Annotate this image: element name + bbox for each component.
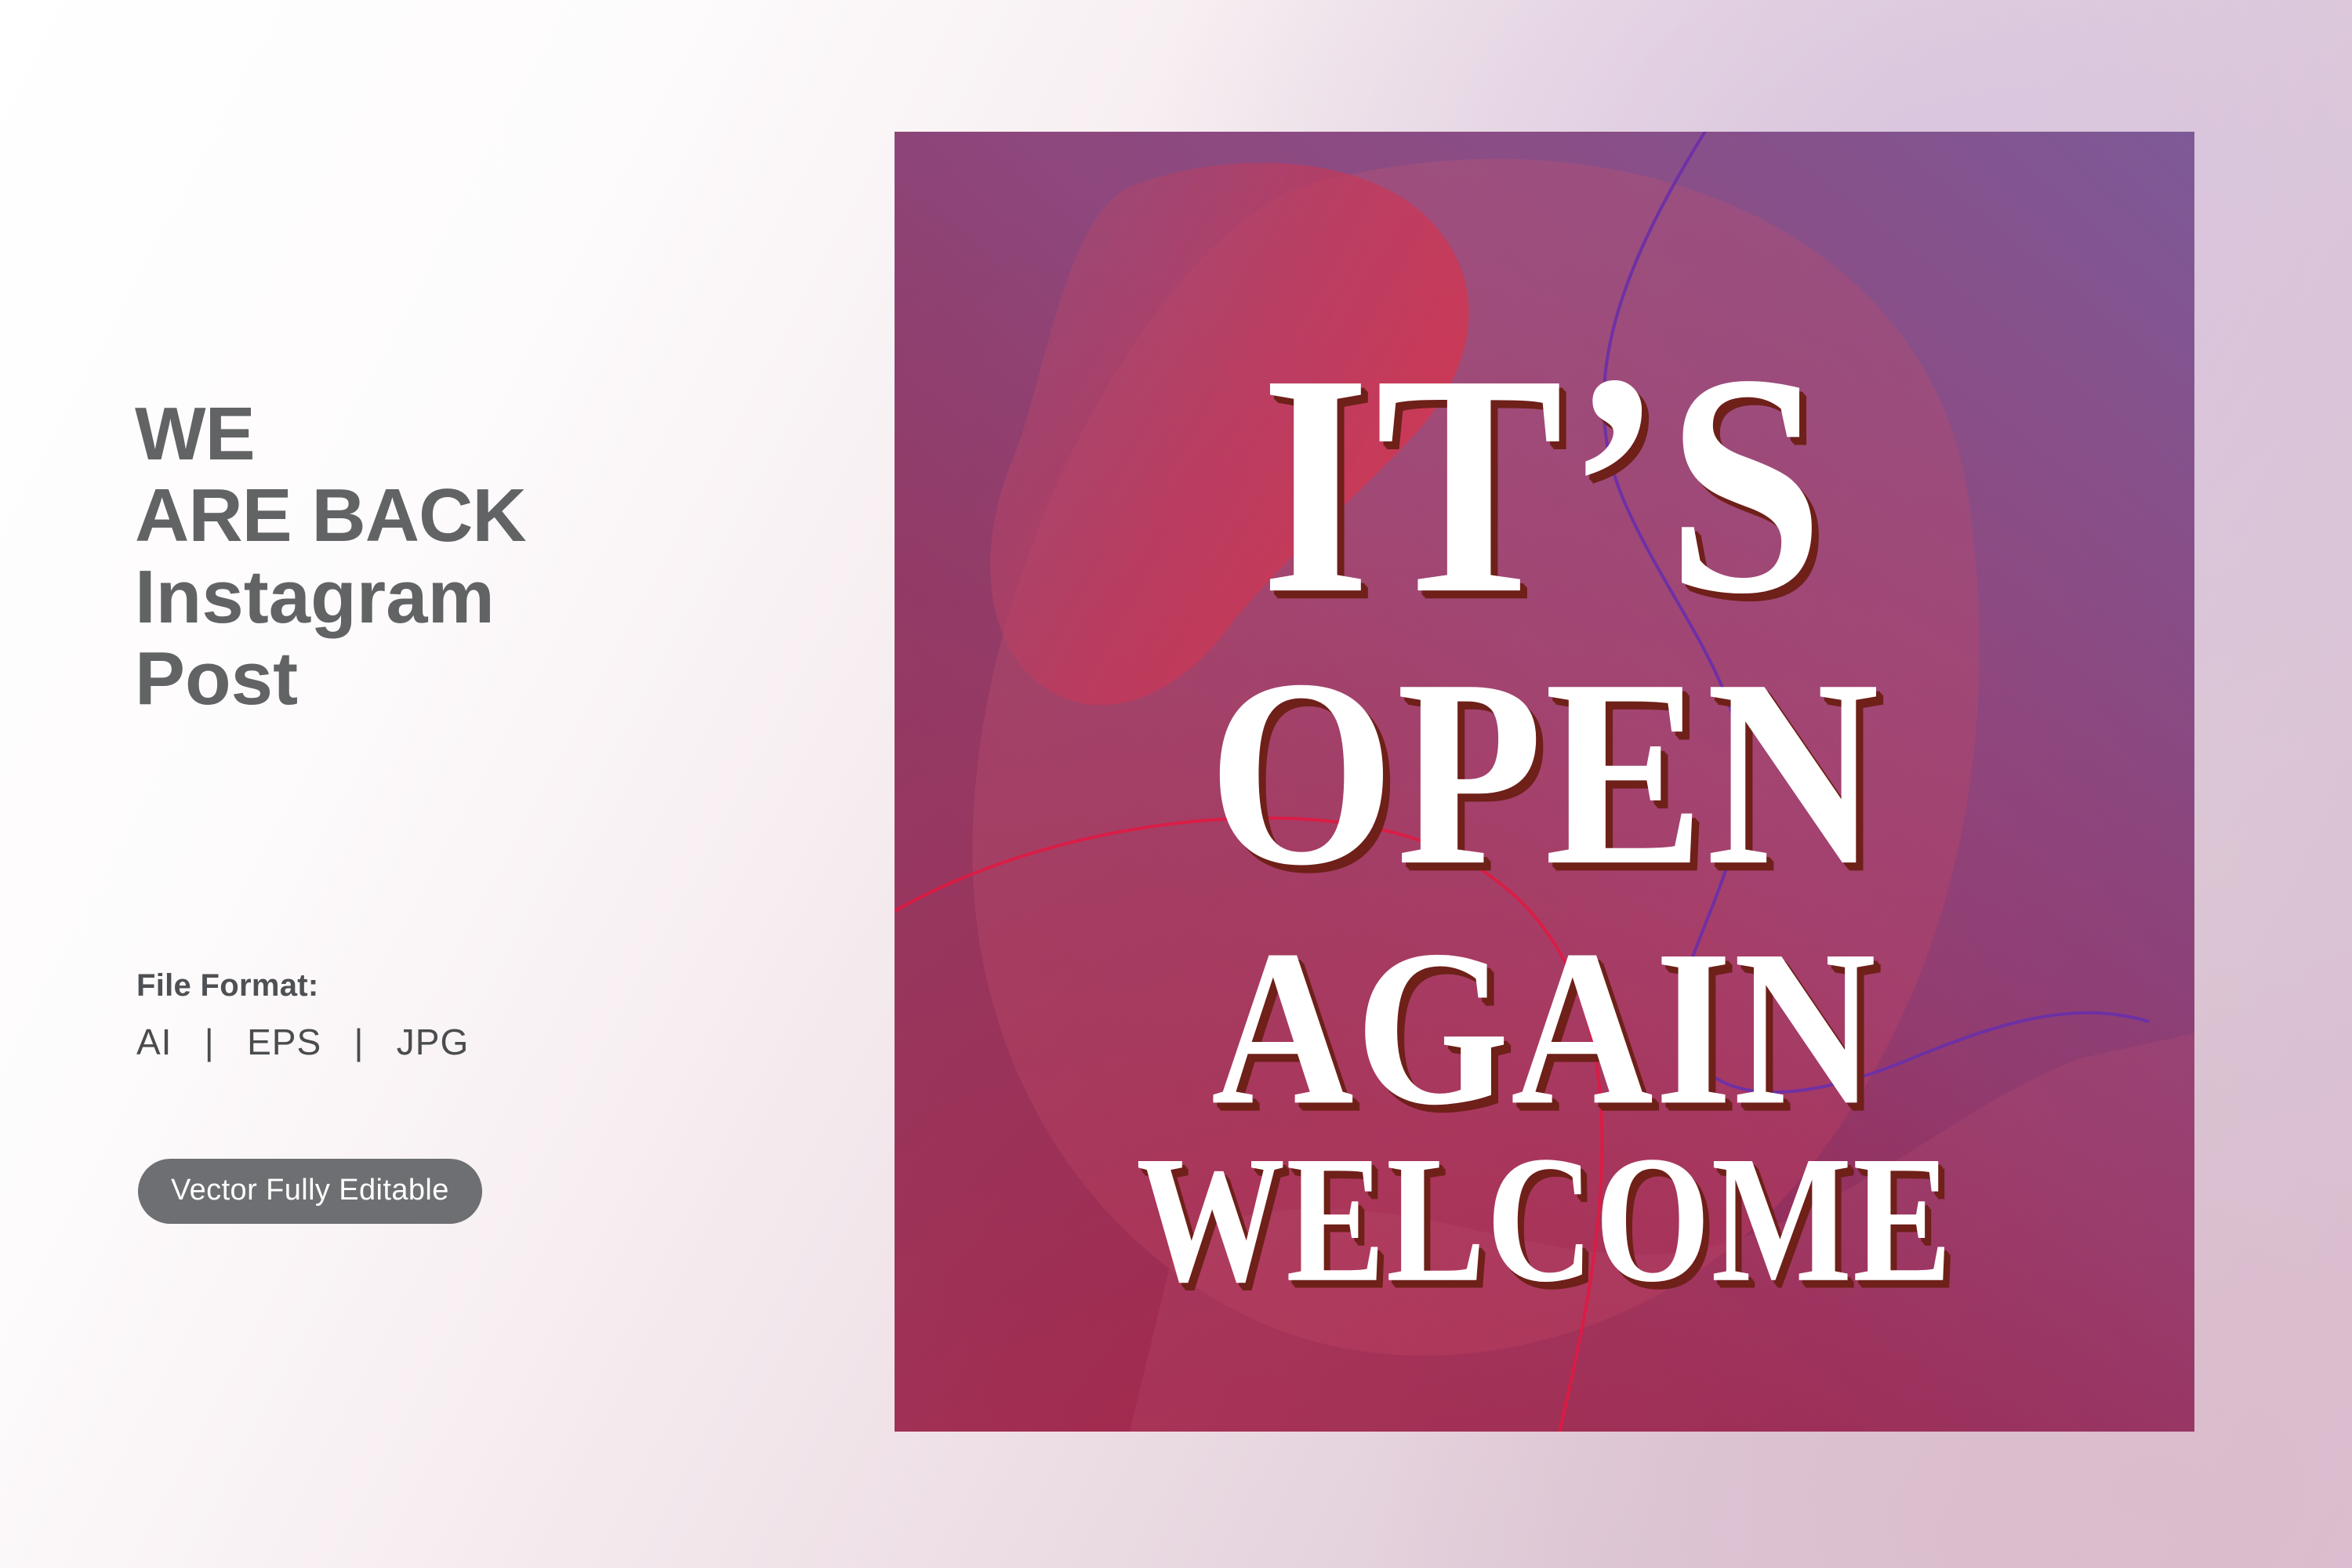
- instagram-post-preview[interactable]: IT’S OPEN AGAIN WELCOME: [895, 132, 2194, 1432]
- status-badge: Vector Fully Editable: [138, 1159, 482, 1224]
- design-mockup-canvas: WE ARE BACK Instagram Post File Format: …: [0, 0, 2352, 1568]
- poster-artwork: [895, 132, 2194, 1432]
- file-format-block: File Format: AI | EPS | JPG: [136, 968, 469, 1063]
- page-title: WE ARE BACK Instagram Post: [135, 396, 731, 717]
- title-line-1: WE: [135, 396, 731, 473]
- title-line-4: Post: [135, 641, 731, 717]
- file-format-label: File Format:: [136, 968, 469, 1004]
- title-line-3: Instagram: [135, 559, 731, 636]
- title-line-2: ARE BACK: [135, 477, 731, 554]
- file-format-values: AI | EPS | JPG: [136, 1021, 469, 1063]
- info-panel: WE ARE BACK Instagram Post: [135, 396, 731, 722]
